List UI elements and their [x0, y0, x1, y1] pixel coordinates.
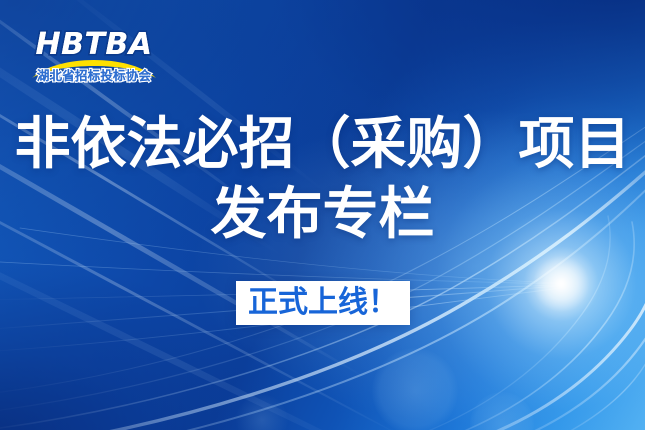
logo-artwork-icon: HBTBA HBTBA 湖北省招标投标协会 湖北省招标投标协会 — [28, 18, 160, 86]
promo-banner: HBTBA HBTBA 湖北省招标投标协会 湖北省招标投标协会 非依法必招（采购… — [0, 0, 645, 430]
headline-line-2: 发布专栏 — [0, 182, 645, 248]
bokeh-orb-icon — [470, 392, 534, 430]
hbtba-logo: HBTBA HBTBA 湖北省招标投标协会 湖北省招标投标协会 — [28, 18, 160, 86]
logo-acronym-fill: HBTBA — [35, 27, 152, 62]
logo-org-name-fill: 湖北省招标投标协会 — [37, 68, 152, 83]
headline-line-1: 非依法必招（采购）项目 — [0, 112, 645, 178]
bokeh-orb-icon — [236, 394, 288, 430]
launch-badge: 正式上线！ — [236, 281, 410, 325]
bokeh-orb-icon — [372, 348, 458, 430]
launch-badge-label: 正式上线！ — [248, 286, 398, 320]
